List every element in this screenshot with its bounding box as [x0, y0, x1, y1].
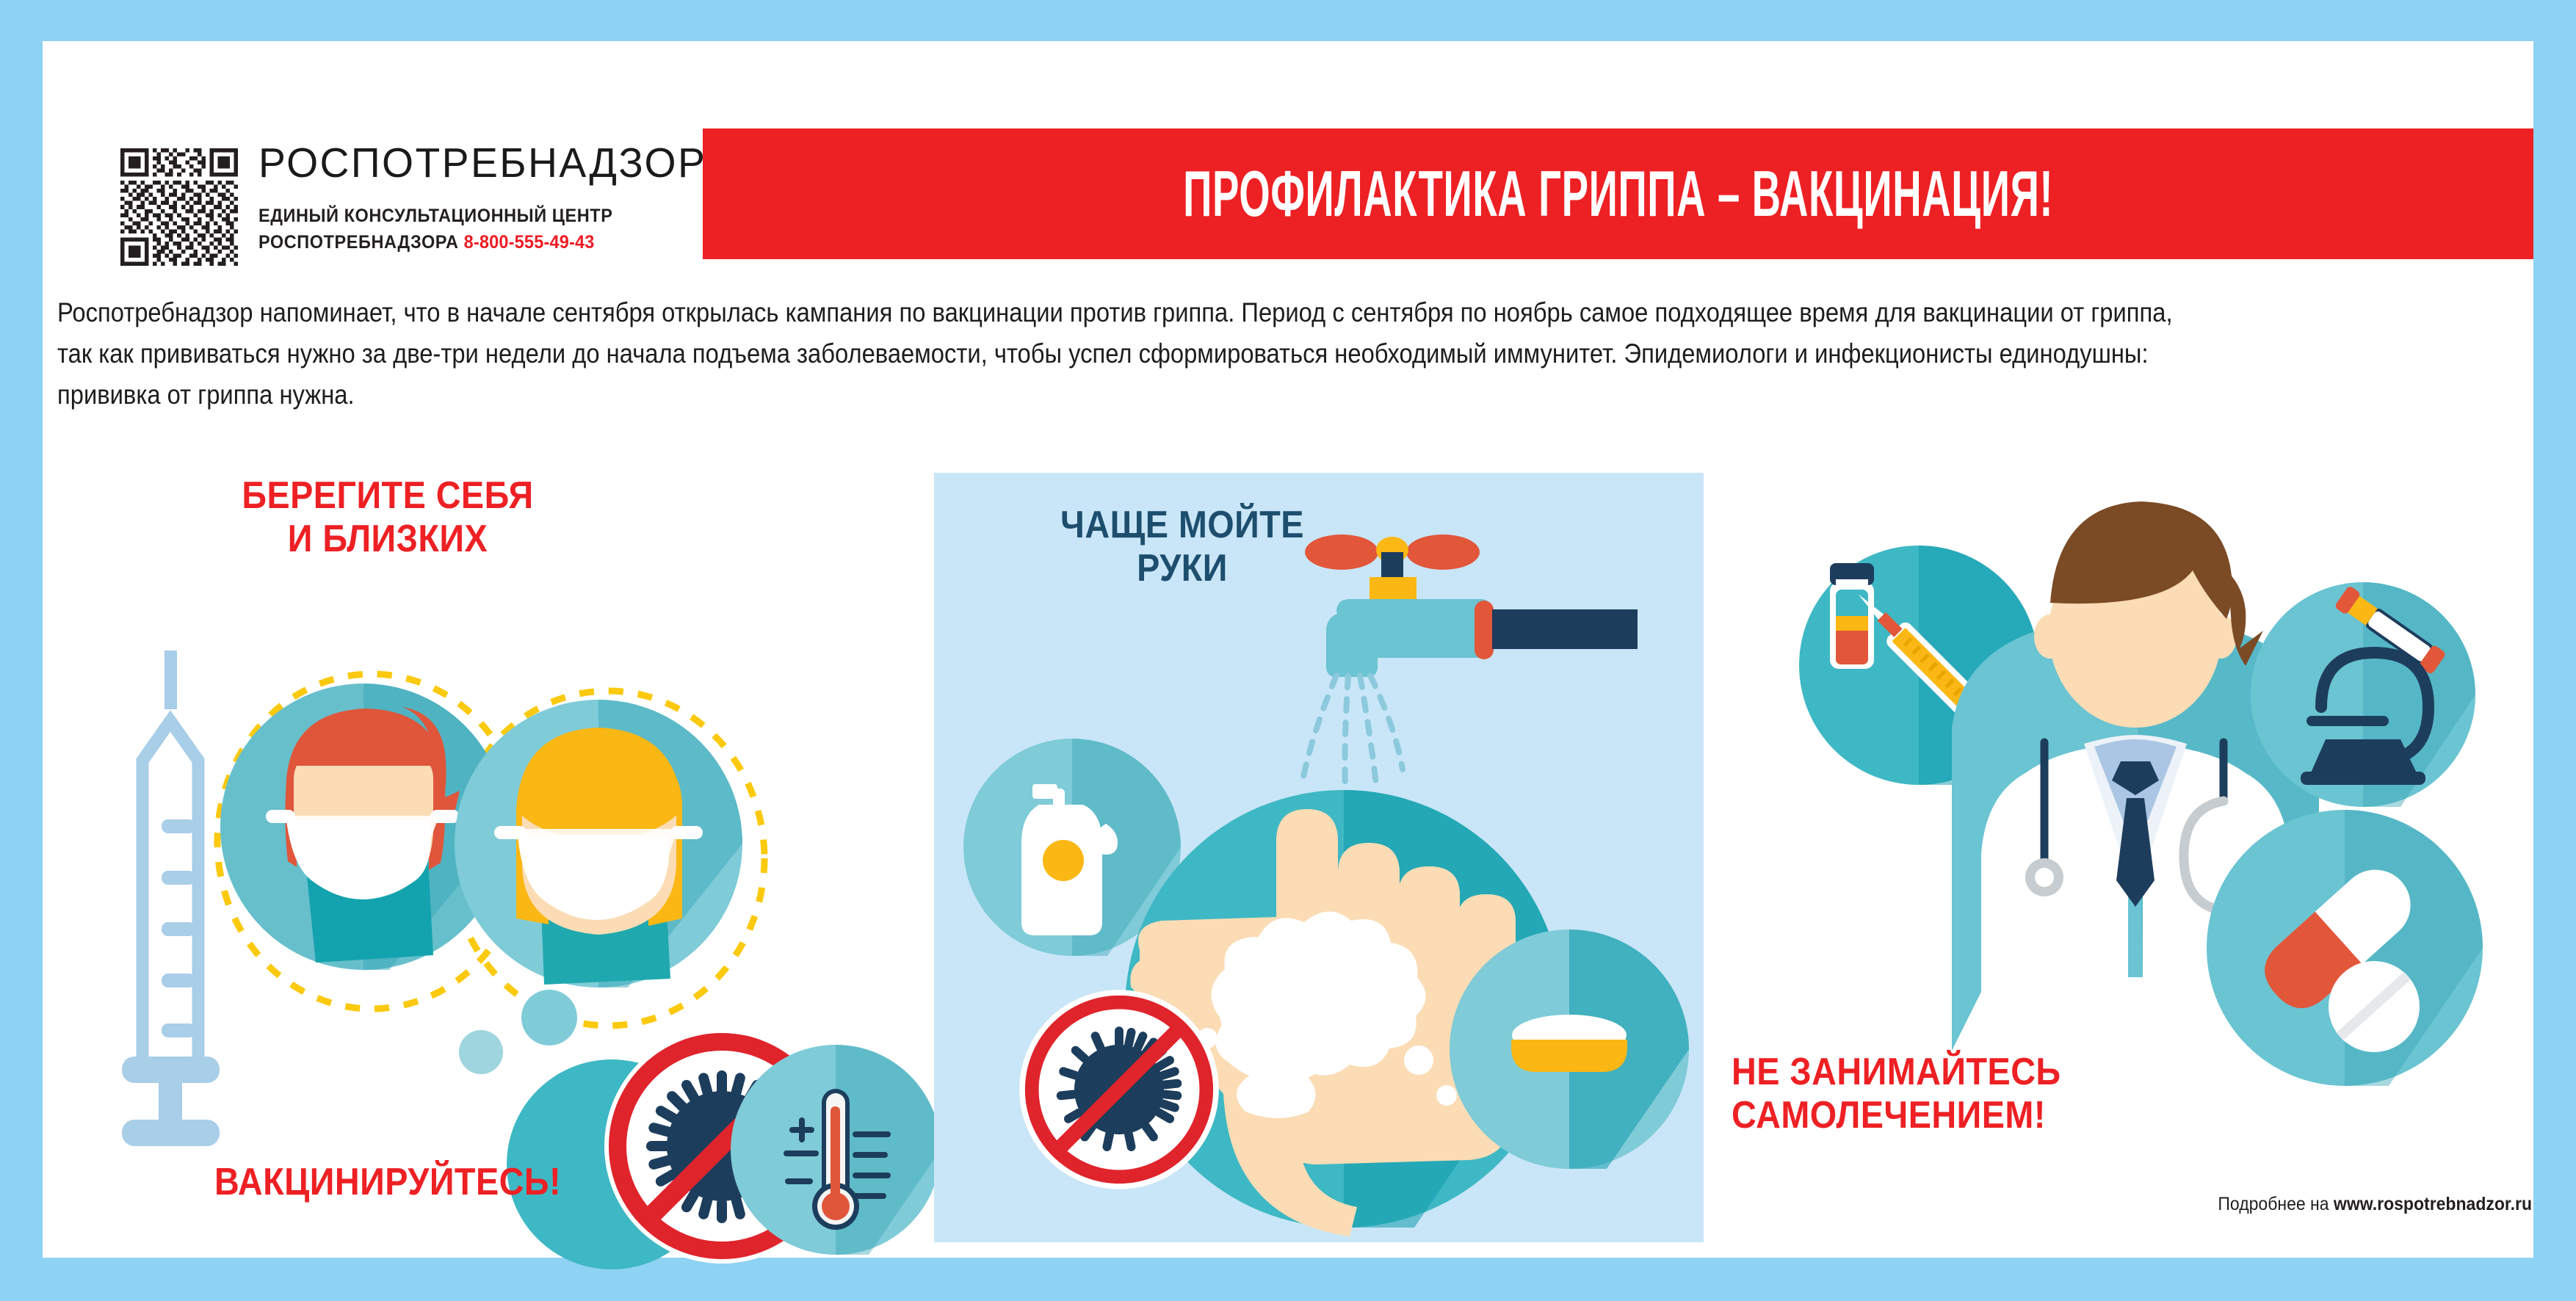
thermometer-icon	[729, 1043, 942, 1256]
accent-circle-small	[520, 988, 579, 1047]
accent-circle-tiny	[457, 1029, 504, 1076]
right-panel-heading: НЕ ЗАНИМАЙТЕСЬ САМОЛЕЧЕНИЕМ!	[1732, 1051, 2319, 1138]
faucet-icon	[1307, 532, 1674, 811]
banner-title: ПРОФИЛАКТИКА ГРИППА – ВАКЦИНАЦИЯ!	[1183, 162, 2053, 226]
footer-prefix: Подробнее на	[2218, 1194, 2334, 1214]
left-heading-line1: БЕРЕГИТЕ СЕБЯ	[189, 474, 586, 518]
footer-site-link[interactable]: www.rospotrebnadzor.ru	[2334, 1194, 2532, 1214]
header-banner: ПРОФИЛАКТИКА ГРИППА – ВАКЦИНАЦИЯ!	[703, 128, 2533, 259]
left-heading-line2: И БЛИЗКИХ	[189, 518, 586, 561]
microscope-icon	[2249, 581, 2477, 808]
logo-block: РОСПОТРЕБНАДЗОР ЕДИНЫЙ КОНСУЛЬТАЦИОННЫЙ …	[120, 142, 708, 300]
footer-note: Подробнее на www.rospotrebnadzor.ru	[1897, 1194, 2532, 1215]
intro-paragraph: Роспотребнадзор напоминает, что в начале…	[57, 292, 2208, 416]
qr-code-icon	[120, 148, 238, 266]
right-heading-line2: САМОЛЕЧЕНИЕМ!	[1732, 1094, 2260, 1137]
left-panel-footer: ВАКЦИНИРУЙТЕСЬ!	[153, 1161, 623, 1204]
logo-subtitle-line2: РОСПОТРЕБНАДЗОРА 8-800-555-49-43	[258, 230, 692, 256]
logo-text-group: РОСПОТРЕБНАДЗОР ЕДИНЫЙ КОНСУЛЬТАЦИОННЫЙ …	[258, 142, 720, 256]
brand-name: РОСПОТРЕБНАДЗОР	[258, 142, 706, 184]
hotline-phone[interactable]: 8-800-555-49-43	[464, 232, 595, 253]
vaccinate-label: ВАКЦИНИРУЙТЕСЬ!	[176, 1161, 599, 1204]
panel-protect-yourself: БЕРЕГИТЕ СЕБЯ И БЛИЗКИХ	[87, 463, 938, 1249]
left-panel-heading: БЕРЕГИТЕ СЕБЯ И БЛИЗКИХ	[167, 474, 608, 562]
logo-subtitle-text: РОСПОТРЕБНАДЗОРА	[258, 232, 459, 253]
soap-bar-icon	[1448, 928, 1690, 1170]
logo-subtitle-line1: ЕДИНЫЙ КОНСУЛЬТАЦИОННЫЙ ЦЕНТР	[258, 203, 692, 230]
panel-wash-hands: ЧАЩЕ МОЙТЕ РУКИ	[934, 473, 1704, 1242]
no-virus-icon	[1016, 987, 1222, 1192]
pills-icon	[2205, 808, 2484, 1087]
girl-with-mask-icon	[444, 685, 767, 1030]
panel-no-self-treatment: НЕ ЗАНИМАЙТЕСЬ САМОЛЕЧЕНИЕМ!	[1724, 463, 2532, 1260]
right-heading-line1: НЕ ЗАНИМАЙТЕСЬ	[1732, 1051, 2260, 1094]
poster-card: РОСПОТРЕБНАДЗОР ЕДИНЫЙ КОНСУЛЬТАЦИОННЫЙ …	[43, 41, 2533, 1258]
